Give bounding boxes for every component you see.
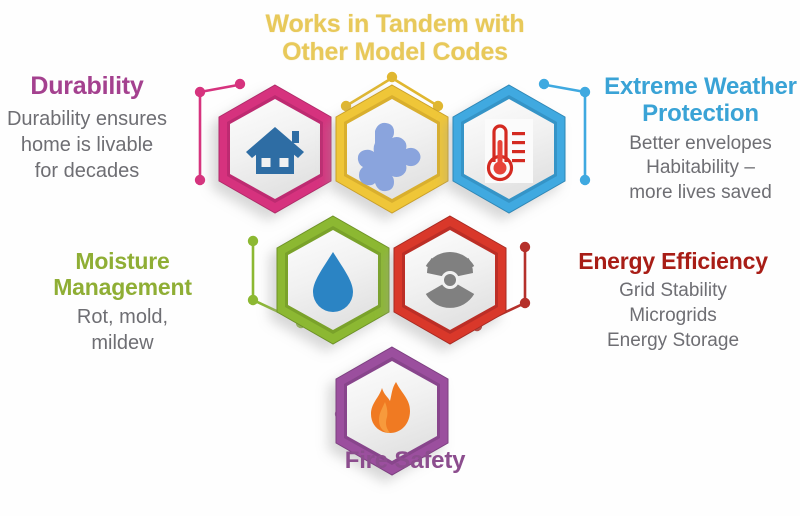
weather-title: Extreme Weather Protection bbox=[583, 73, 800, 128]
label-energy-efficiency: Energy Efficiency Grid Stability Microgr… bbox=[558, 248, 788, 353]
energy-body: Grid Stability Microgrids Energy Storage bbox=[558, 279, 788, 353]
infographic-canvas: Works in Tandem with Other Model Codes D… bbox=[0, 0, 800, 516]
label-fire-safety: Fire Safety bbox=[300, 447, 510, 475]
hexagon-moisture[interactable] bbox=[277, 216, 389, 344]
durability-body: Durability ensures home is livable for d… bbox=[0, 106, 202, 184]
energy-title: Energy Efficiency bbox=[558, 248, 788, 275]
tandem-title: Works in Tandem with Other Model Codes bbox=[245, 10, 545, 66]
moisture-body: Rot, mold, mildew bbox=[15, 304, 230, 356]
label-extreme-weather-protection: Extreme Weather Protection Better envelo… bbox=[583, 73, 800, 206]
hexagon-durability[interactable] bbox=[219, 85, 331, 213]
hexagon-weather[interactable] bbox=[453, 85, 565, 213]
label-moisture-management: Moisture Management Rot, mold, mildew bbox=[15, 248, 230, 356]
label-works-in-tandem: Works in Tandem with Other Model Codes bbox=[245, 10, 545, 70]
durability-title: Durability bbox=[0, 72, 202, 102]
label-durability: Durability Durability ensures home is li… bbox=[0, 72, 202, 184]
hexagon-tandem[interactable] bbox=[336, 85, 448, 213]
fire-title: Fire Safety bbox=[300, 447, 510, 475]
moisture-title: Moisture Management bbox=[15, 248, 230, 300]
hexagon-energy[interactable] bbox=[394, 216, 506, 344]
weather-body: Better envelopes Habitability – more liv… bbox=[583, 132, 800, 206]
